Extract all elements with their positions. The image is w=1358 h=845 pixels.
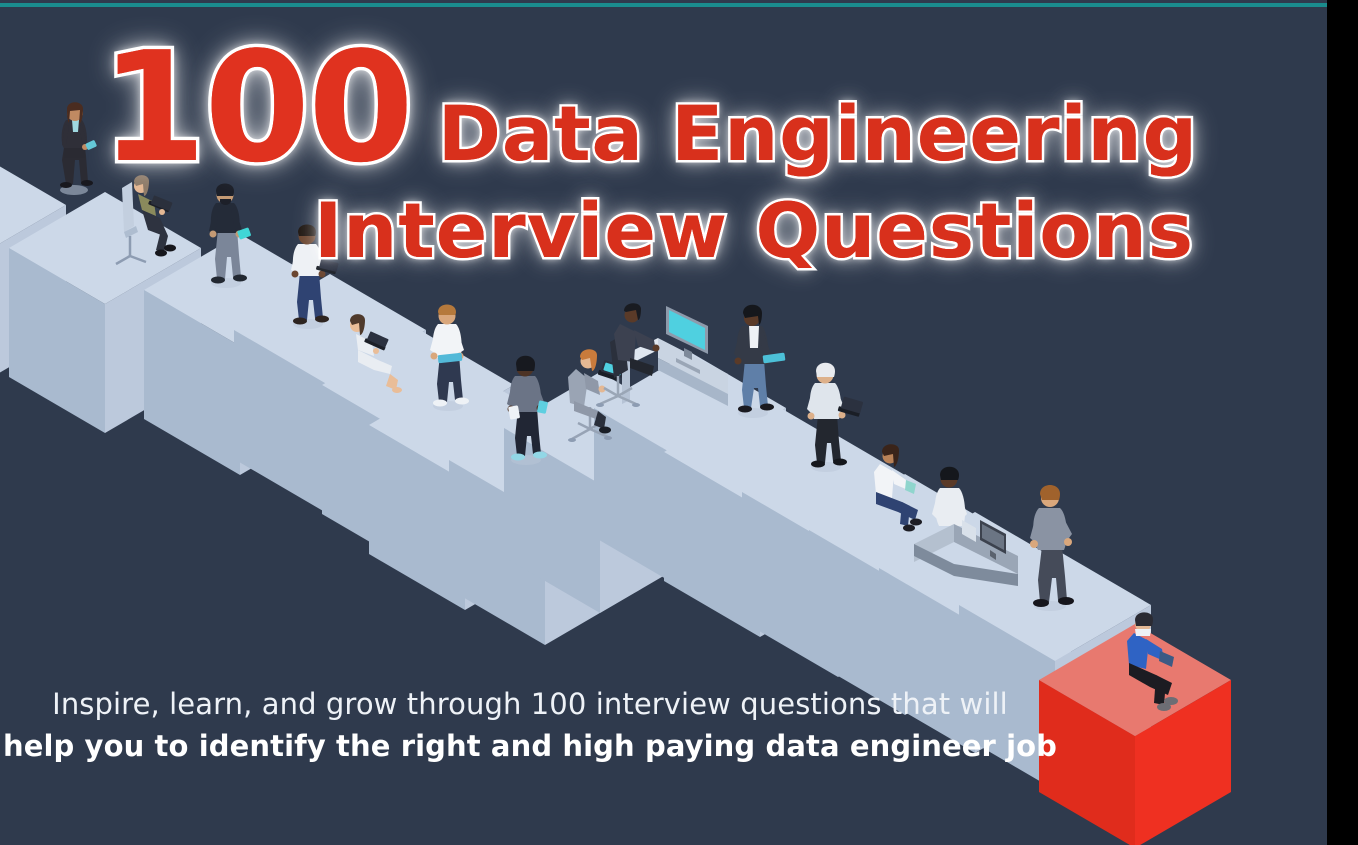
person-woman-suit-phone: [60, 102, 97, 195]
right-letterbox-bar: [1327, 0, 1358, 845]
poster-root: 100 Data Engineering Interview Questions…: [0, 0, 1358, 845]
staircase-svg: [0, 0, 1327, 845]
isometric-staircase-illustration: [0, 0, 1327, 845]
poster-canvas: 100 Data Engineering Interview Questions…: [0, 0, 1327, 845]
